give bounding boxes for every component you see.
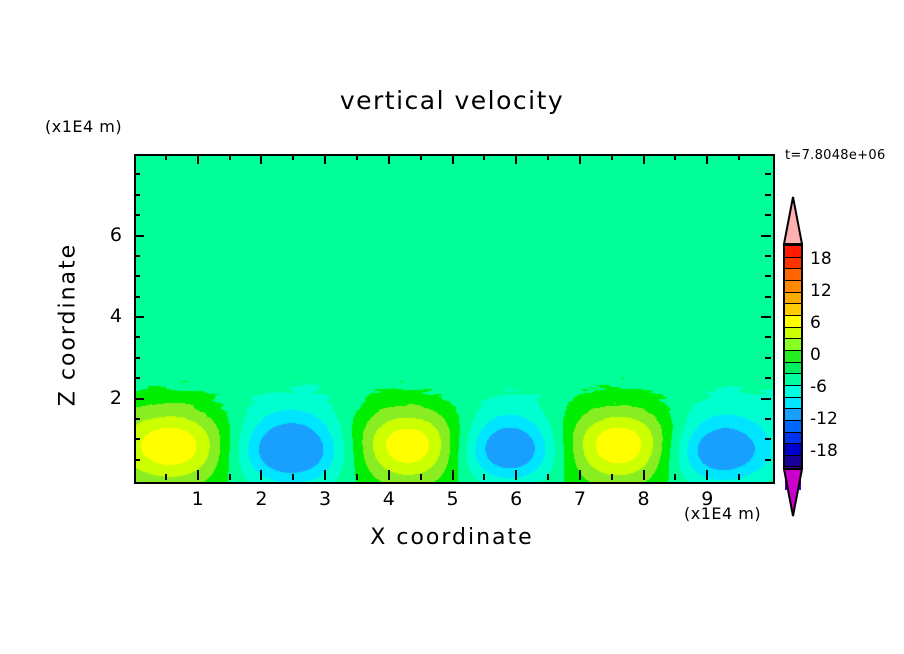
- colorbar-tick-label: 0: [810, 345, 821, 365]
- y-axis-minor-tick: [134, 418, 140, 420]
- y-axis-minor-tick: [134, 173, 140, 175]
- colorbar-band: [785, 316, 801, 328]
- x-axis-minor-tick-top: [229, 154, 231, 160]
- y-axis-minor-tick-right: [765, 336, 771, 338]
- x-axis-major-tick-top: [324, 154, 326, 164]
- y-axis-major-tick-right: [761, 316, 771, 318]
- y-axis-major-tick-right: [761, 235, 771, 237]
- colorbar-band: [785, 351, 801, 363]
- x-axis-minor-tick-top: [420, 154, 422, 160]
- x-axis-minor-tick: [165, 474, 167, 480]
- x-axis-minor-tick-top: [292, 154, 294, 160]
- x-axis-major-tick: [515, 470, 517, 480]
- colorbar-band: [785, 293, 801, 305]
- x-axis-tick-label: 3: [305, 488, 345, 510]
- y-axis-minor-tick-right: [765, 194, 771, 196]
- x-axis-minor-tick: [420, 474, 422, 480]
- y-axis-major-tick: [134, 398, 144, 400]
- colorbar-tick-label: -18: [810, 441, 838, 461]
- y-axis-minor-tick-right: [765, 438, 771, 440]
- y-axis-minor-tick-right: [765, 459, 771, 461]
- x-axis-minor-tick-top: [356, 154, 358, 160]
- x-axis-tick-label: 8: [624, 488, 664, 510]
- y-axis-minor-tick-right: [765, 275, 771, 277]
- colorbar-band: [785, 398, 801, 410]
- x-axis-major-tick-top: [643, 154, 645, 164]
- y-axis-tick-label: 6: [82, 224, 122, 246]
- x-axis-title: X coordinate: [0, 525, 904, 550]
- x-axis-minor-tick: [674, 474, 676, 480]
- y-axis-major-tick-right: [761, 398, 771, 400]
- y-axis-title: Z coordinate: [56, 195, 81, 455]
- vertical-velocity-contour-field: [136, 156, 773, 482]
- y-axis-minor-tick-right: [765, 418, 771, 420]
- y-axis-minor-tick-right: [765, 173, 771, 175]
- x-axis-major-tick: [324, 470, 326, 480]
- x-axis-minor-tick: [738, 474, 740, 480]
- x-axis-minor-tick: [356, 474, 358, 480]
- y-axis-minor-tick: [134, 255, 140, 257]
- y-axis-units-label: (x1E4 m): [45, 117, 122, 136]
- x-axis-major-tick-top: [515, 154, 517, 164]
- colorbar-band: [785, 421, 801, 433]
- y-axis-major-tick: [134, 235, 144, 237]
- colorbar-band: [785, 433, 801, 445]
- colorbar-tick-label: -6: [810, 377, 827, 397]
- x-axis-major-tick-top: [579, 154, 581, 164]
- x-axis-minor-tick: [229, 474, 231, 480]
- y-axis-minor-tick-right: [765, 377, 771, 379]
- x-axis-minor-tick: [292, 474, 294, 480]
- timestamp-annotation: t=7.8048e+06: [785, 148, 886, 163]
- x-axis-minor-tick-top: [483, 154, 485, 160]
- x-axis-tick-label: 4: [369, 488, 409, 510]
- x-axis-minor-tick-top: [165, 154, 167, 160]
- y-axis-minor-tick: [134, 214, 140, 216]
- x-axis-major-tick-top: [260, 154, 262, 164]
- x-axis-major-tick-top: [706, 154, 708, 164]
- x-axis-major-tick: [197, 470, 199, 480]
- x-axis-minor-tick: [611, 474, 613, 480]
- x-axis-major-tick: [706, 470, 708, 480]
- colorbar-bottom-arrow-icon: [780, 468, 806, 516]
- colorbar-band: [785, 281, 801, 293]
- x-axis-tick-label: 2: [241, 488, 281, 510]
- colorbar-bands: [783, 244, 803, 468]
- colorbar-band: [785, 328, 801, 340]
- colorbar-tick-label: 6: [810, 313, 821, 333]
- x-axis-minor-tick-top: [674, 154, 676, 160]
- colorbar-band: [785, 304, 801, 316]
- y-axis-minor-tick-right: [765, 296, 771, 298]
- x-axis-minor-tick: [483, 474, 485, 480]
- colorbar-band: [785, 386, 801, 398]
- colorbar-band: [785, 409, 801, 421]
- y-axis-minor-tick-right: [765, 357, 771, 359]
- x-axis-tick-label: 9: [687, 488, 727, 510]
- y-axis-minor-tick-right: [765, 214, 771, 216]
- x-axis-tick-label: 6: [496, 488, 536, 510]
- y-axis-minor-tick: [134, 438, 140, 440]
- x-axis-major-tick-top: [388, 154, 390, 164]
- x-axis-minor-tick-top: [738, 154, 740, 160]
- colorbar-band: [785, 374, 801, 386]
- y-axis-minor-tick: [134, 336, 140, 338]
- colorbar-tick-label: 18: [810, 249, 832, 269]
- y-axis-major-tick: [134, 316, 144, 318]
- x-axis-major-tick: [452, 470, 454, 480]
- x-axis-major-tick-top: [452, 154, 454, 164]
- x-axis-major-tick: [643, 470, 645, 480]
- colorbar: 181260-6-12-18: [780, 196, 806, 516]
- colorbar-band: [785, 258, 801, 270]
- contour-plot-area: [134, 154, 775, 484]
- x-axis-tick-label: 1: [178, 488, 218, 510]
- colorbar-tick-label: -12: [810, 409, 838, 429]
- x-axis-minor-tick: [547, 474, 549, 480]
- colorbar-band: [785, 444, 801, 456]
- colorbar-band: [785, 363, 801, 375]
- x-axis-minor-tick-top: [547, 154, 549, 160]
- y-axis-minor-tick: [134, 459, 140, 461]
- y-axis-minor-tick: [134, 194, 140, 196]
- x-axis-major-tick-top: [197, 154, 199, 164]
- x-axis-major-tick: [579, 470, 581, 480]
- y-axis-tick-label: 4: [82, 305, 122, 327]
- colorbar-tick-label: 12: [810, 281, 832, 301]
- colorbar-band: [785, 456, 801, 468]
- y-axis-minor-tick: [134, 377, 140, 379]
- y-axis-minor-tick: [134, 296, 140, 298]
- y-axis-minor-tick-right: [765, 255, 771, 257]
- y-axis-minor-tick: [134, 275, 140, 277]
- page-title: vertical velocity: [0, 86, 904, 115]
- x-axis-tick-label: 5: [433, 488, 473, 510]
- colorbar-band: [785, 269, 801, 281]
- x-axis-major-tick: [260, 470, 262, 480]
- colorbar-band: [785, 339, 801, 351]
- y-axis-minor-tick: [134, 357, 140, 359]
- x-axis-tick-label: 7: [560, 488, 600, 510]
- colorbar-band: [785, 246, 801, 258]
- x-axis-major-tick: [388, 470, 390, 480]
- x-axis-minor-tick-top: [611, 154, 613, 160]
- colorbar-top-arrow-icon: [780, 196, 806, 244]
- y-axis-tick-label: 2: [82, 387, 122, 409]
